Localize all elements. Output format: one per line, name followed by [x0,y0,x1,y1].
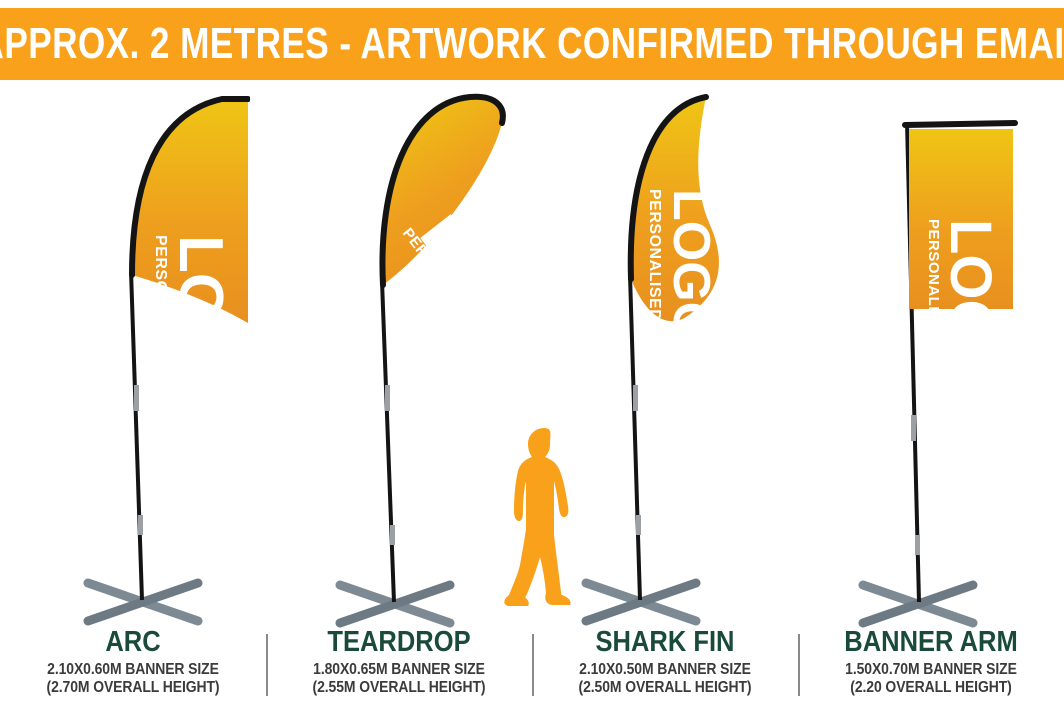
teardrop-flag-svg: PERSONALISED LOGO [330,85,510,630]
arc-flag-svg: PERSONALISED LOGO [70,85,250,630]
product-name: TEARDROP [282,628,516,657]
product-teardrop-illustration: PERSONALISED LOGO [330,85,510,630]
caption-banner-arm: BANNER ARM 1.50X0.70M BANNER SIZE (2.20 … [798,628,1064,710]
product-shark-fin-illustration: PERSONALISED LOGO [578,85,758,630]
product-overall-height: (2.50M OVERALL HEIGHT) [545,679,784,697]
human-silhouette-svg [500,425,580,610]
product-banner-size: 1.50X0.70M BANNER SIZE [811,661,1050,679]
flag-pole [131,271,143,600]
flag-display-stage: PERSONALISED LOGO [0,80,1064,630]
artwork-logo-text: LOGO [166,235,235,418]
shark-fin-flag-svg: PERSONALISED LOGO [578,85,758,630]
product-name: ARC [16,628,250,657]
flag-artwork-text: PERSONALISED LOGO [152,235,235,418]
artwork-logo-text: LOGO [938,219,1003,390]
product-overall-height: (2.20 OVERALL HEIGHT) [811,679,1050,697]
page-title: APPROX. 2 METRES - ARTWORK CONFIRMED THR… [0,22,1064,66]
product-banner-size: 2.10X0.60M BANNER SIZE [13,661,252,679]
product-name: SHARK FIN [548,628,782,657]
artwork-personalised-text: PERSONALISED [646,189,663,321]
flag-artwork-text: PERSONALISED LOGO [925,219,1003,390]
flag-pole [630,275,641,600]
product-overall-height: (2.55M OVERALL HEIGHT) [279,679,518,697]
banner-top-arm [905,123,1015,125]
product-banner-size: 1.80X0.65M BANNER SIZE [279,661,518,679]
header-banner: APPROX. 2 METRES - ARTWORK CONFIRMED THR… [0,8,1064,80]
artwork-logo-text: LOGO [662,189,720,342]
product-banner-size: 2.10X0.50M BANNER SIZE [545,661,784,679]
caption-arc: ARC 2.10X0.60M BANNER SIZE (2.70M OVERAL… [0,628,266,710]
banner-arm-flag-svg: PERSONALISED LOGO [845,85,1025,630]
caption-teardrop: TEARDROP 1.80X0.65M BANNER SIZE (2.55M O… [266,628,532,710]
product-overall-height: (2.70M OVERALL HEIGHT) [13,679,252,697]
product-captions-row: ARC 2.10X0.60M BANNER SIZE (2.70M OVERAL… [0,628,1064,710]
product-arc-illustration: PERSONALISED LOGO [70,85,250,630]
caption-shark-fin: SHARK FIN 2.10X0.50M BANNER SIZE (2.50M … [532,628,798,710]
flag-artwork-text: PERSONALISED LOGO [646,189,720,342]
human-scale-silhouette [500,425,580,615]
flag-pole [382,281,395,602]
product-name: BANNER ARM [814,628,1048,657]
flag-artwork-text: PERSONALISED LOGO [399,204,510,373]
product-banner-arm-illustration: PERSONALISED LOGO [845,85,1025,630]
